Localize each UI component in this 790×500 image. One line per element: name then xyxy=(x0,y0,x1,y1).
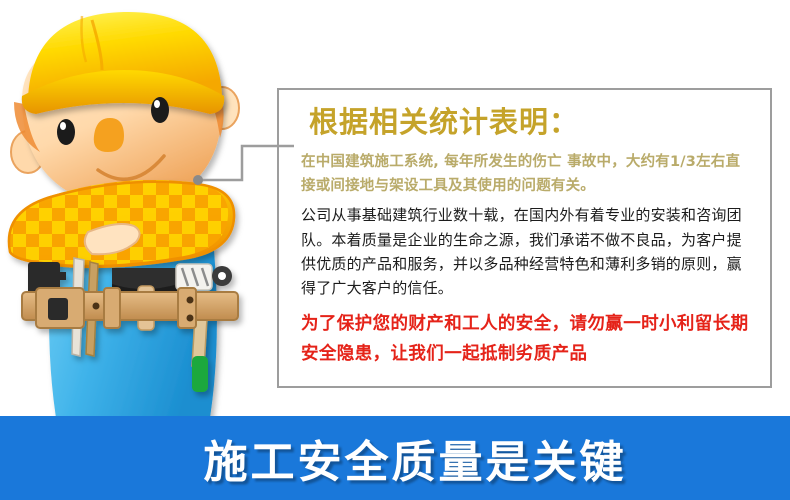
worker-eye-right xyxy=(151,97,169,123)
paragraph-warning: 为了保护您的财产和工人的安全，请勿赢一时小利留长期安全隐患，让我们一起抵制劣质产… xyxy=(301,309,752,369)
connector-dot xyxy=(193,175,203,185)
safety-poster: 根据相关统计表明： 在中国建筑施工系统, 每年所发生的伤亡 事故中，大约有1/3… xyxy=(0,0,790,500)
callout-connector xyxy=(186,128,296,208)
bottom-slogan-banner: 施工安全质量是关键 xyxy=(0,416,790,500)
paragraph-company: 公司从事基础建筑行业数十载，在国内外有着专业的安装和咨询团队。本着质量是企业的生… xyxy=(301,203,752,300)
hard-hat xyxy=(22,12,224,114)
paragraph-statistics: 在中国建筑施工系统, 每年所发生的伤亡 事故中，大约有1/3左右直接或间接地与架… xyxy=(301,151,752,198)
banner-slogan-text: 施工安全质量是关键 xyxy=(204,426,627,490)
statistics-text-panel: 根据相关统计表明： 在中国建筑施工系统, 每年所发生的伤亡 事故中，大约有1/3… xyxy=(277,88,772,388)
panel-heading: 根据相关统计表明： xyxy=(309,106,752,139)
worker-eye-left xyxy=(57,119,75,145)
construction-worker-illustration xyxy=(0,0,270,440)
